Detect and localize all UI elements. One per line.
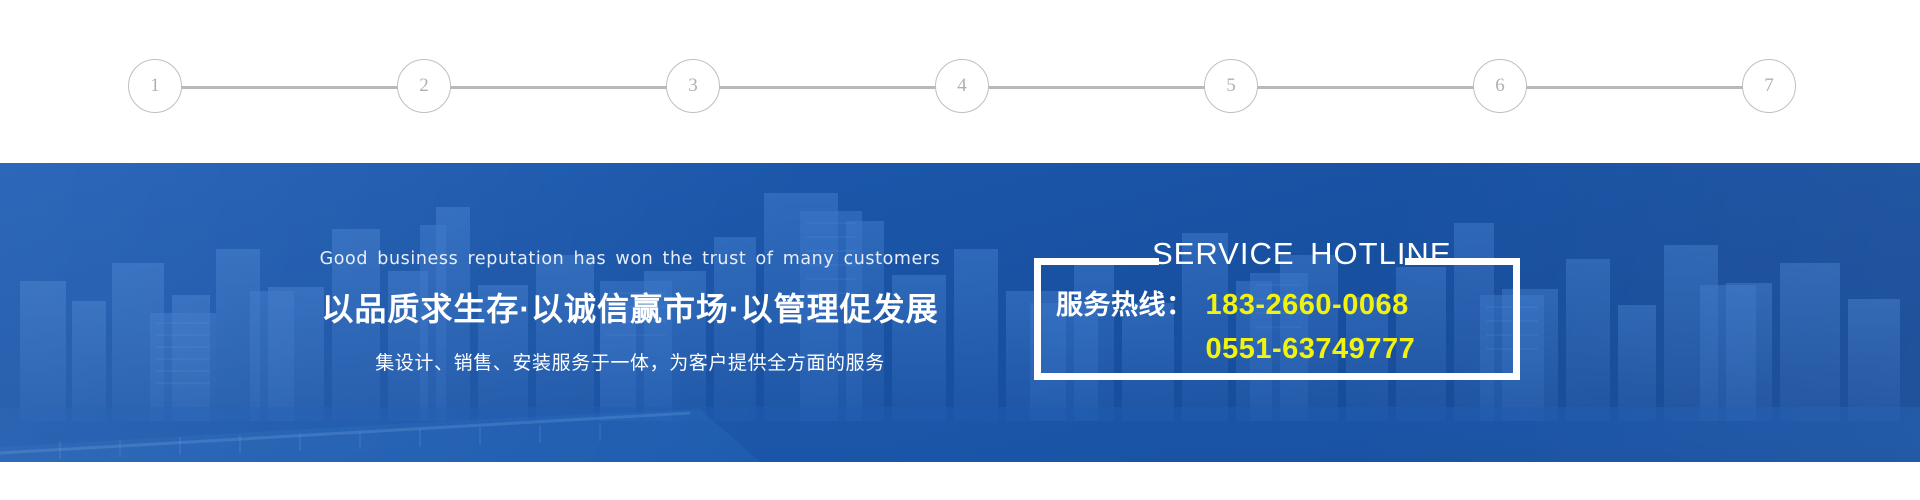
slogan-english: Good business reputation has won the tru… xyxy=(300,249,960,269)
hotline-numbers: 服务热线： 183-2660-0068 服务热线： 0551-63749777 xyxy=(1056,290,1500,365)
step-circle-label[interactable]: 7 xyxy=(1742,59,1796,113)
stepper-section: 1234567 xyxy=(0,0,1920,163)
hotline-label: 服务热线： xyxy=(1056,291,1194,319)
step-item-3[interactable]: 3 xyxy=(666,59,722,115)
step-connector-line xyxy=(1232,86,1501,89)
hotline-row-secondary: 服务热线： 0551-63749777 xyxy=(1056,334,1500,364)
step-pagination[interactable]: 1234567 xyxy=(128,59,1798,115)
step-circle-label[interactable]: 5 xyxy=(1204,59,1258,113)
hotline-border-right xyxy=(1513,258,1520,380)
step-item-6[interactable]: 6 xyxy=(1473,59,1529,115)
hotline-number-secondary[interactable]: 0551-63749777 xyxy=(1206,334,1416,364)
step-item-2[interactable]: 2 xyxy=(397,59,453,115)
page-bottom-strip xyxy=(0,462,1920,500)
cityscape-watermark xyxy=(0,163,1920,462)
hotline-border-top-left xyxy=(1034,258,1159,265)
hotline-title: SERVICE HOTLINE xyxy=(1152,236,1402,272)
hotline-border-left xyxy=(1034,258,1041,380)
slogan-subtext: 集设计、销售、安装服务于一体，为客户提供全方面的服务 xyxy=(300,348,960,375)
step-connector-line xyxy=(156,86,425,89)
hotline-number-primary[interactable]: 183-2660-0068 xyxy=(1206,290,1409,320)
step-connector-line xyxy=(963,86,1232,89)
step-connector-line xyxy=(425,86,694,89)
step-item-4[interactable]: 4 xyxy=(935,59,991,115)
step-circle-label[interactable]: 3 xyxy=(666,59,720,113)
step-item-1[interactable]: 1 xyxy=(128,59,184,115)
hotline-box: SERVICE HOTLINE 服务热线： 183-2660-0068 服务热线… xyxy=(1034,258,1520,380)
hotline-row-primary: 服务热线： 183-2660-0068 xyxy=(1056,290,1500,320)
banner-sheen-overlay xyxy=(0,163,1920,462)
step-item-7[interactable]: 7 xyxy=(1742,59,1798,115)
step-circle-label[interactable]: 6 xyxy=(1473,59,1527,113)
promo-banner: Good business reputation has won the tru… xyxy=(0,163,1920,462)
step-connector-line xyxy=(694,86,963,89)
slogan-block: Good business reputation has won the tru… xyxy=(300,249,960,375)
slogan-main-headline: 以品质求生存·以诚信赢市场·以管理促发展 xyxy=(300,284,960,330)
step-connector-line xyxy=(1501,86,1770,89)
step-circle-label[interactable]: 4 xyxy=(935,59,989,113)
step-item-5[interactable]: 5 xyxy=(1204,59,1260,115)
hotline-border-bottom xyxy=(1034,373,1520,380)
step-circle-label[interactable]: 1 xyxy=(128,59,182,113)
step-circle-label[interactable]: 2 xyxy=(397,59,451,113)
